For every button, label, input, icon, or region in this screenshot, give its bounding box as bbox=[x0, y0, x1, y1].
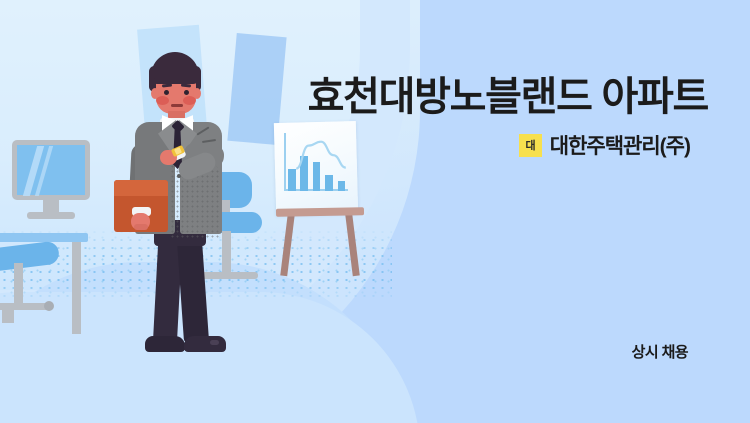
eye-left bbox=[164, 90, 169, 95]
eye-right bbox=[184, 90, 189, 95]
shoe-highlight bbox=[210, 340, 219, 345]
office-chair-left-post bbox=[14, 263, 23, 307]
briefcase-flap bbox=[114, 180, 168, 196]
bar-chart-graphic bbox=[284, 133, 348, 199]
easel-tray bbox=[276, 207, 364, 217]
company-name: 대한주택관리(주) bbox=[550, 130, 690, 160]
hair-fringe bbox=[154, 63, 198, 79]
page-title: 효천대방노블랜드 아파트 bbox=[238, 74, 708, 120]
cheek-right bbox=[183, 96, 196, 105]
office-chair-left-wheel bbox=[44, 301, 54, 311]
chart-trend-line bbox=[286, 133, 348, 191]
hand-left-fingers bbox=[134, 224, 148, 230]
monitor-stand-base bbox=[27, 212, 75, 219]
businessman-illustration bbox=[118, 52, 248, 362]
company-row: 대 대한주택관리(주) bbox=[519, 130, 690, 160]
status-badge: 상시 채용 bbox=[632, 341, 688, 362]
recruit-banner: 효천대방노블랜드 아파트 대 대한주택관리(주) 상시 채용 bbox=[0, 0, 750, 423]
shoe-right bbox=[184, 336, 226, 352]
office-chair-left-base-stem bbox=[2, 307, 14, 323]
mouth bbox=[171, 104, 183, 107]
desk-leg bbox=[72, 242, 81, 334]
company-badge: 대 bbox=[519, 134, 542, 157]
desk-surface bbox=[0, 233, 88, 242]
cheek-left bbox=[156, 96, 169, 105]
shoe-left bbox=[145, 336, 185, 352]
